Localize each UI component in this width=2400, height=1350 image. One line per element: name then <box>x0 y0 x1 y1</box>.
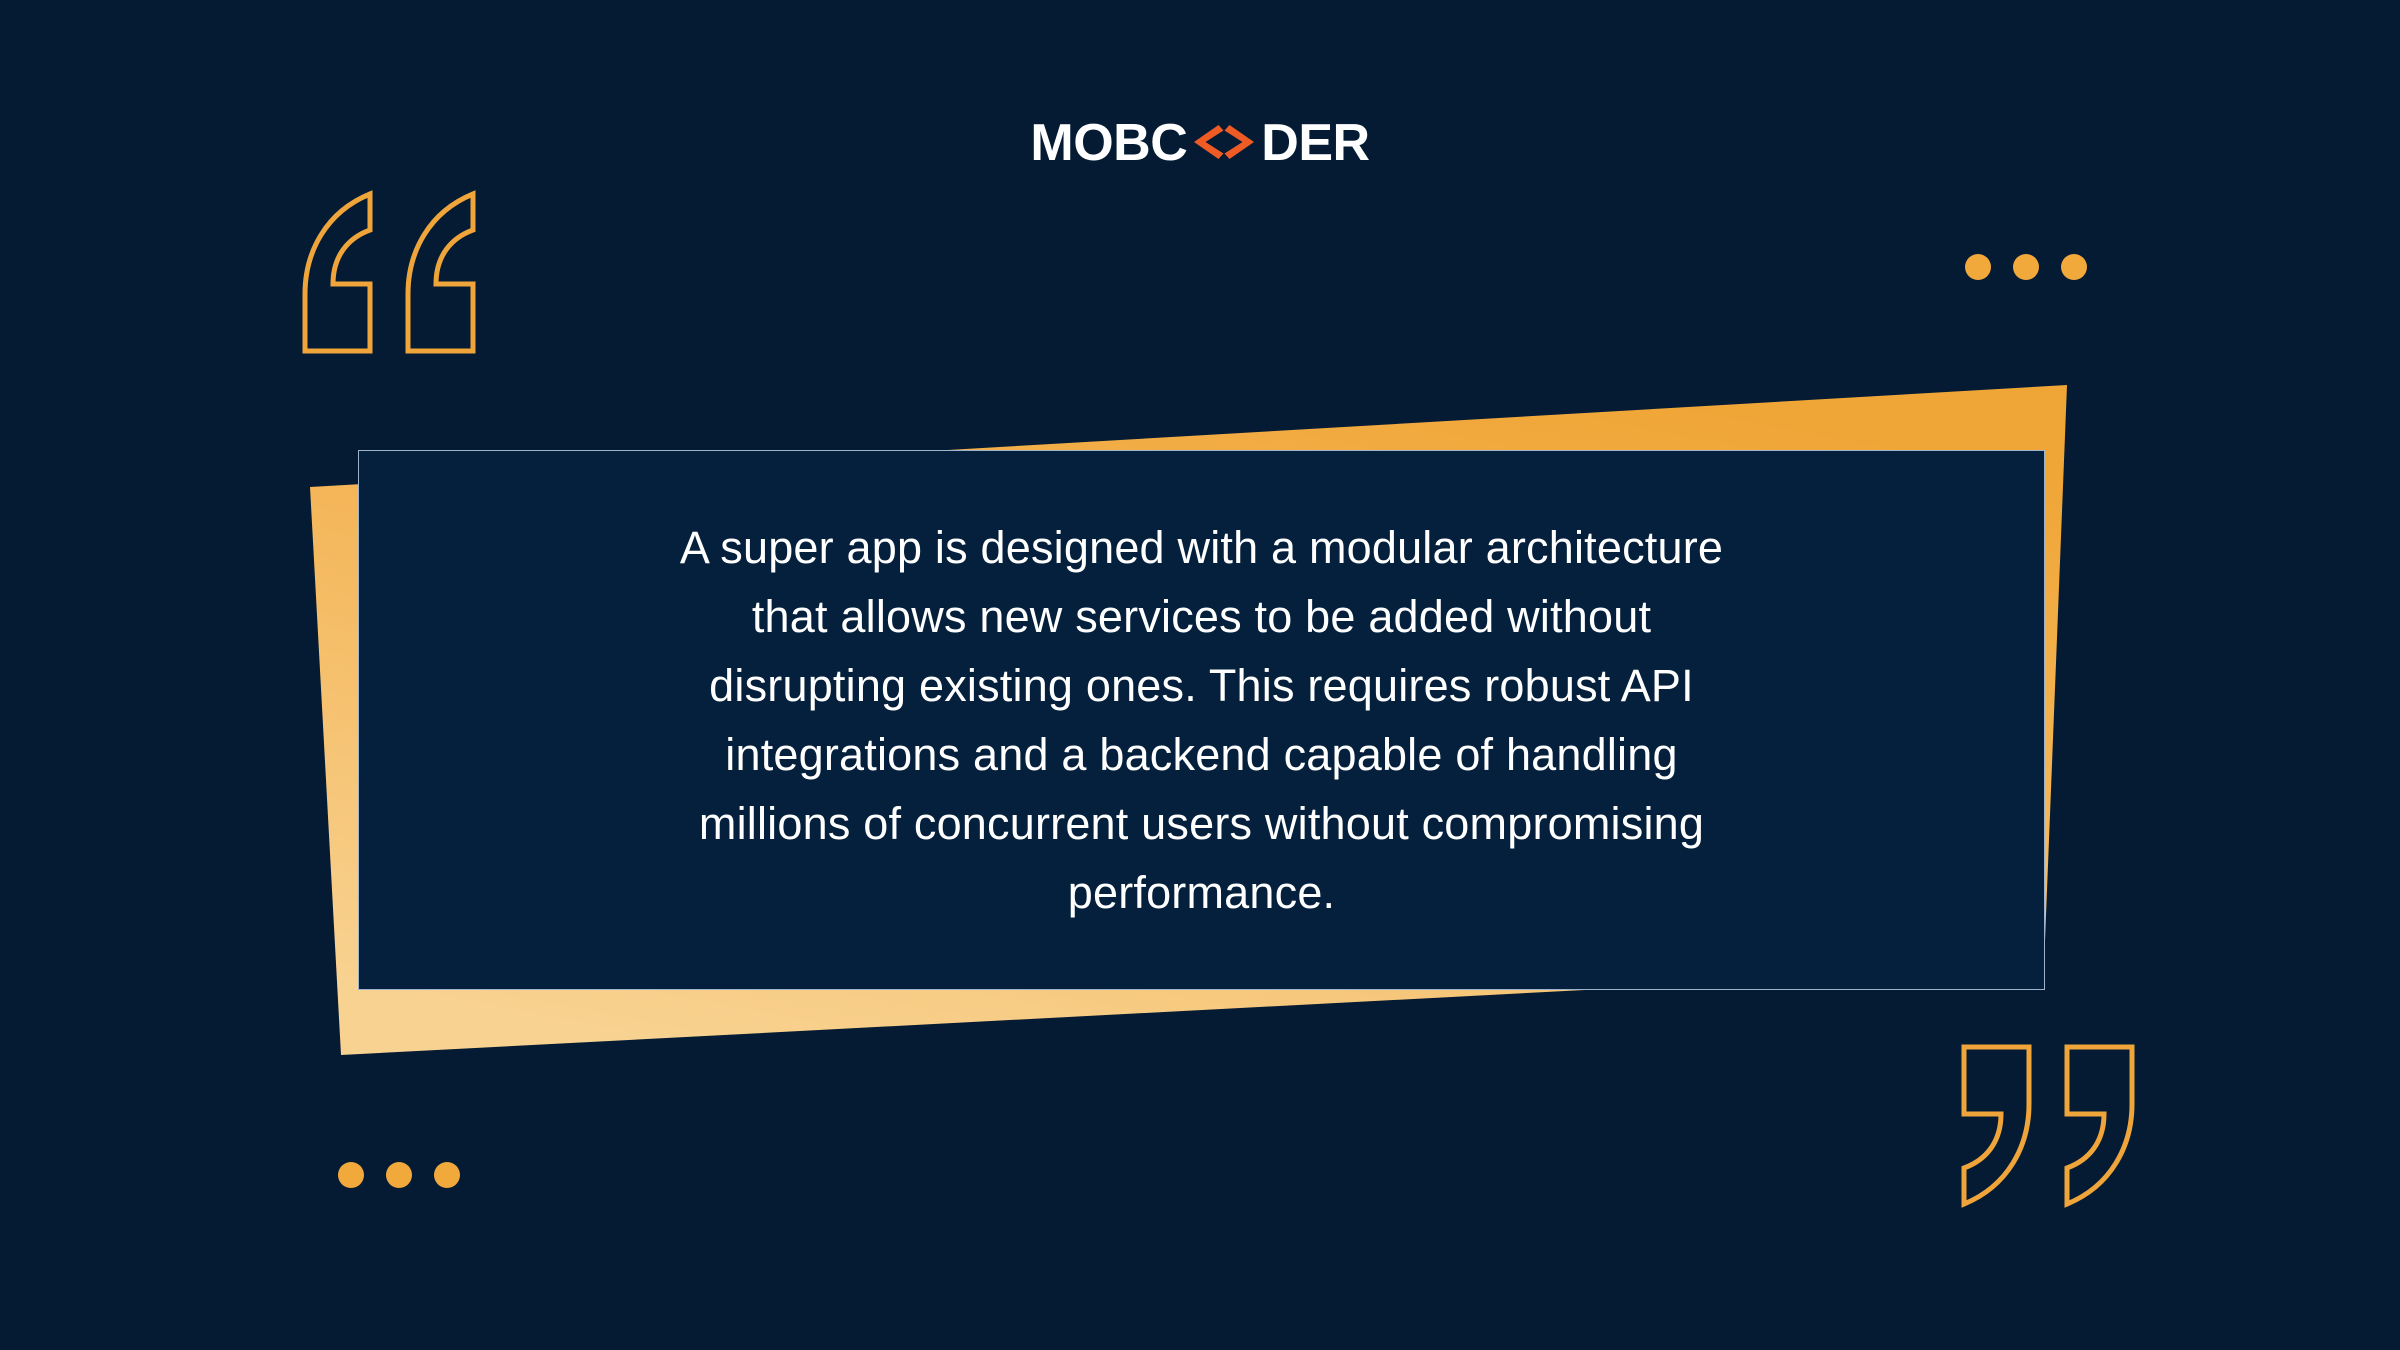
slide-canvas: MOBC DER A super app is designed with a … <box>0 0 2400 1350</box>
quote-line: performance. <box>409 858 1994 927</box>
dot-icon <box>338 1162 364 1188</box>
logo-text-before: MOBC <box>1030 117 1187 169</box>
dots-decoration-bottom-left <box>338 1162 460 1188</box>
quote-line: millions of concurrent users without com… <box>409 789 1994 858</box>
quote-open-icon <box>296 190 482 360</box>
dot-icon <box>2013 254 2039 280</box>
code-chevrons-icon <box>1189 122 1259 166</box>
dot-icon <box>2061 254 2087 280</box>
logo-text-after: DER <box>1261 117 1369 169</box>
quote-text: A super app is designed with a modular a… <box>409 513 1994 927</box>
dot-icon <box>386 1162 412 1188</box>
dots-decoration-top-right <box>1965 254 2087 280</box>
quote-line: integrations and a backend capable of ha… <box>409 720 1994 789</box>
quote-line: that allows new services to be added wit… <box>409 582 1994 651</box>
quote-line: A super app is designed with a modular a… <box>409 513 1994 582</box>
brand-logo: MOBC DER <box>0 117 2400 169</box>
dot-icon <box>434 1162 460 1188</box>
quote-line: disrupting existing ones. This requires … <box>409 651 1994 720</box>
quote-close-icon <box>1955 1043 2141 1213</box>
dot-icon <box>1965 254 1991 280</box>
quote-card: A super app is designed with a modular a… <box>358 450 2045 990</box>
